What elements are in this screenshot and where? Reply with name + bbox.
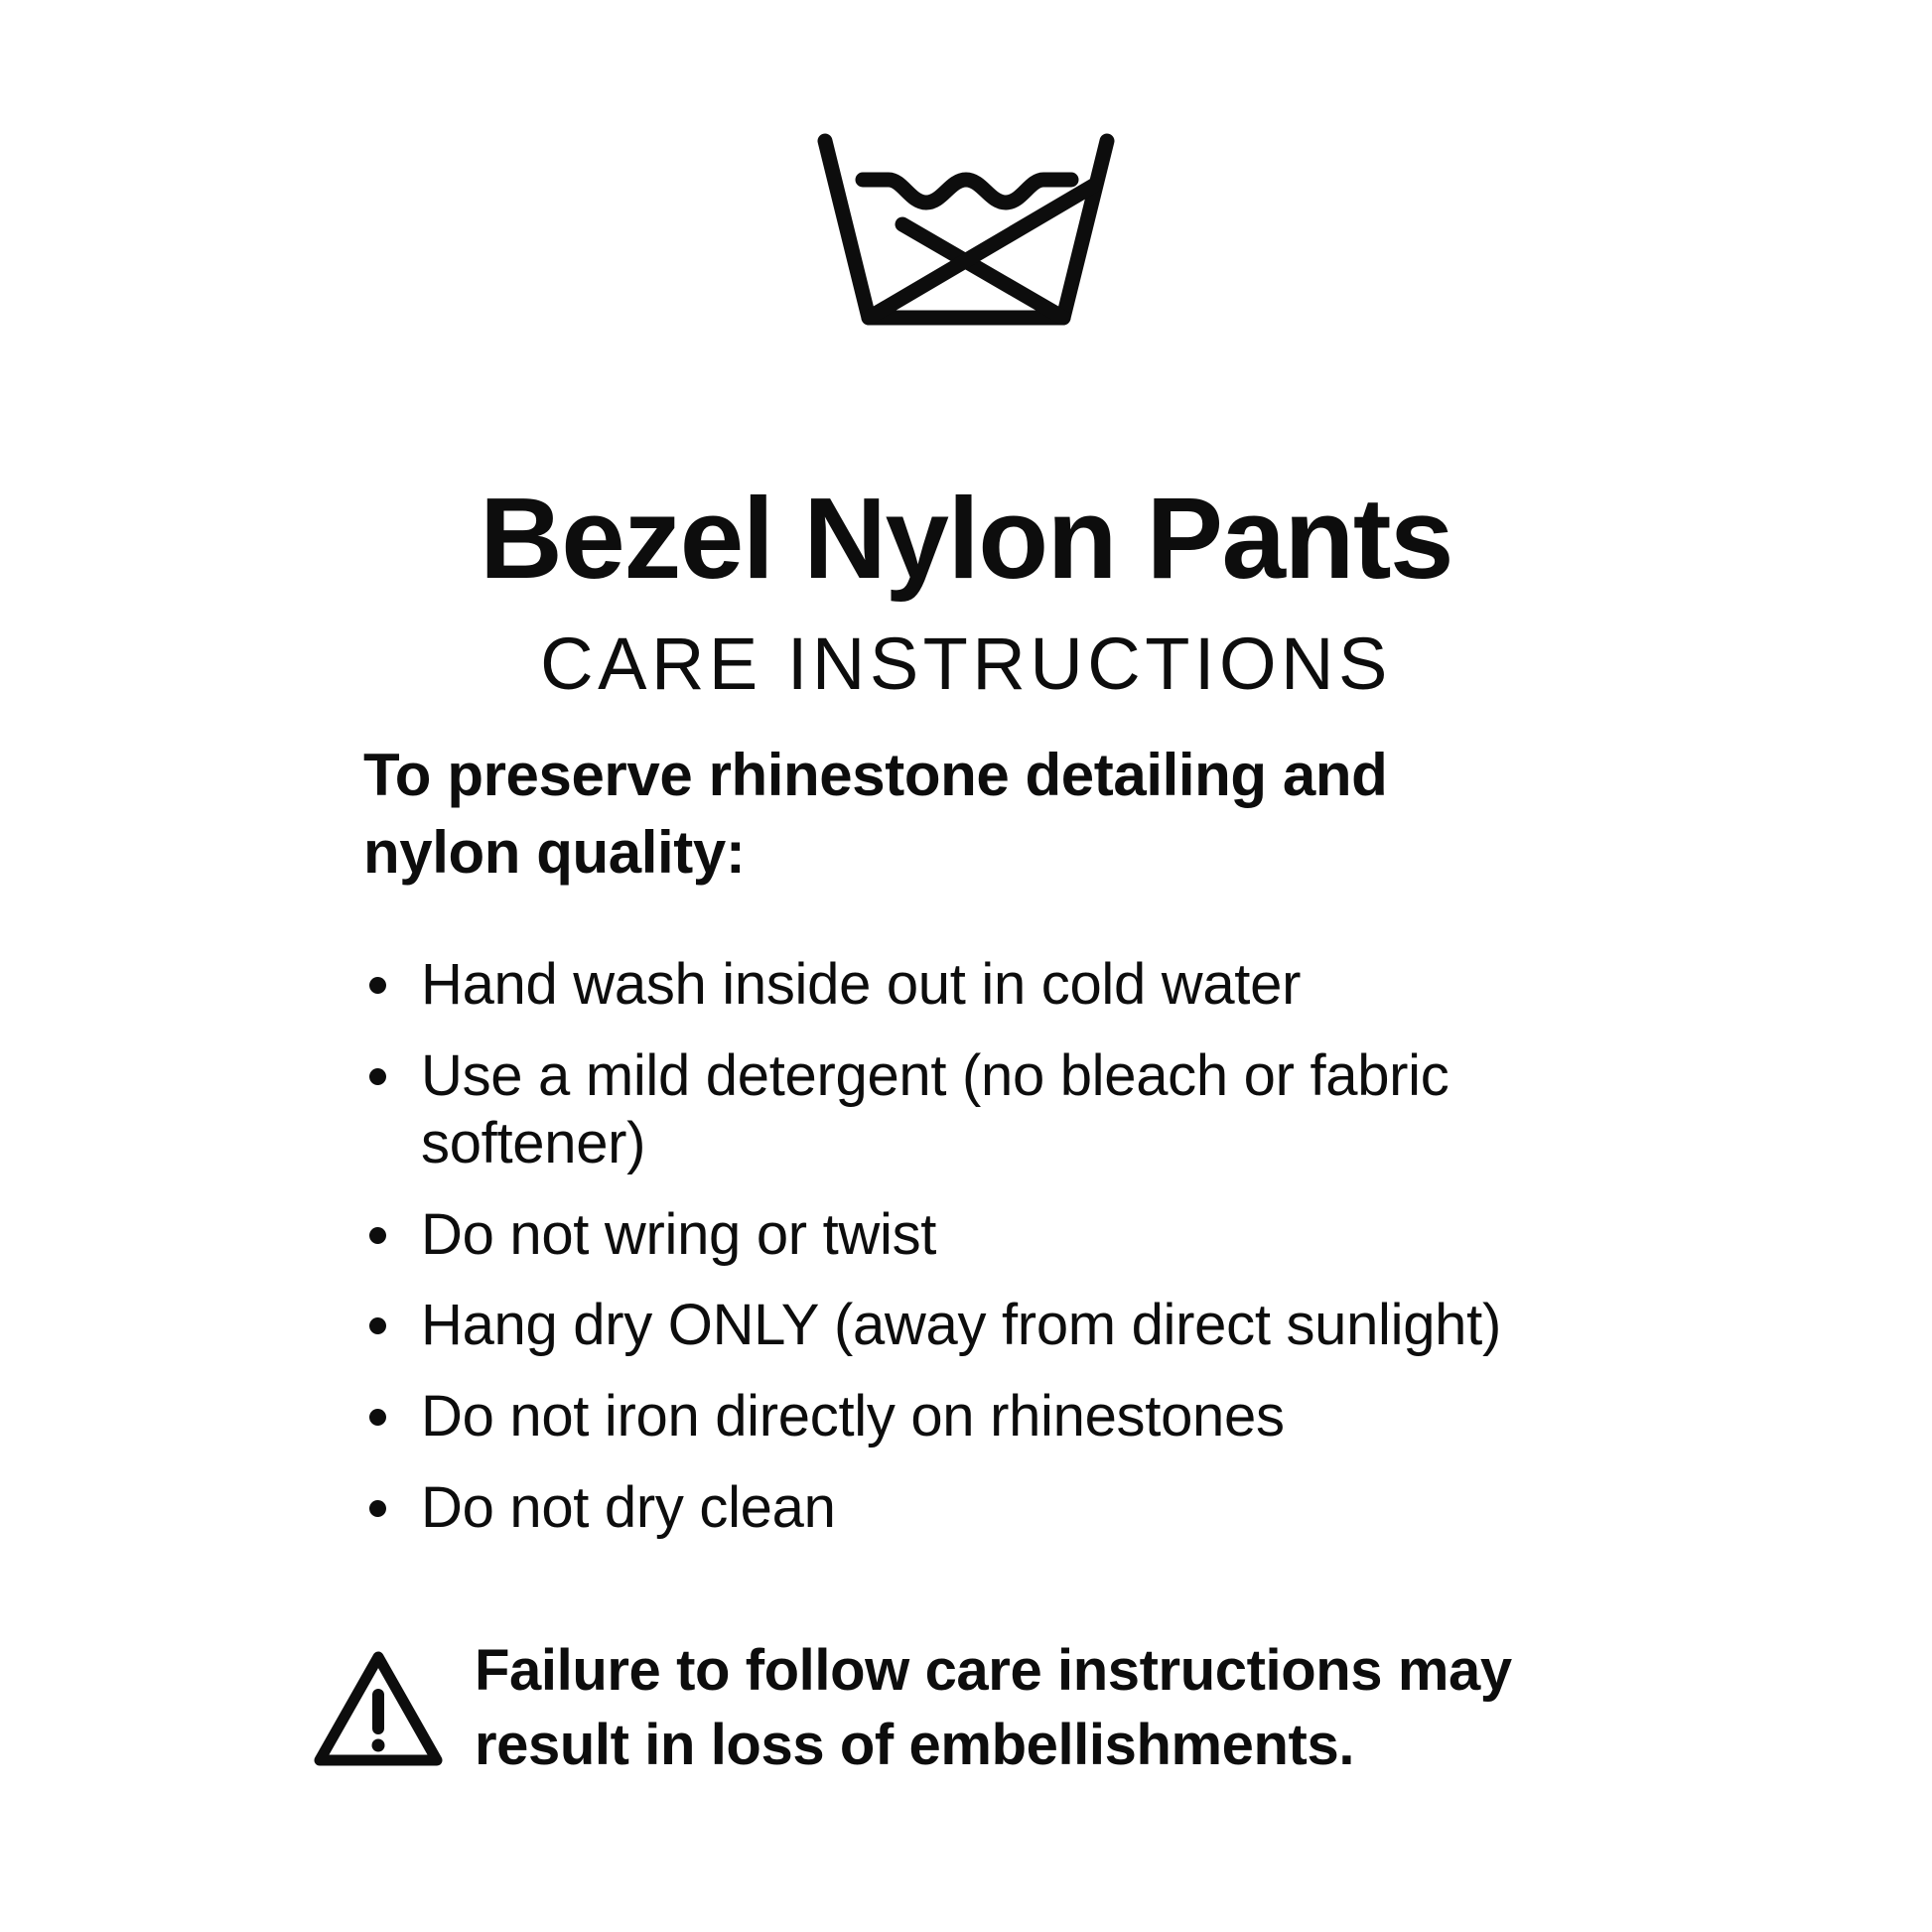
page-subtitle: CARE INSTRUCTIONS	[0, 623, 1932, 704]
list-item-label: Hand wash inside out in cold water	[421, 952, 1301, 1017]
care-content: To preserve rhinestone detailing and nyl…	[363, 737, 1624, 1783]
bullet-icon	[369, 1068, 386, 1085]
bullet-icon	[369, 1409, 386, 1426]
list-item: Do not wring or twist	[363, 1201, 1624, 1269]
bullet-icon	[369, 977, 386, 994]
care-label-card: Bezel Nylon Pants CARE INSTRUCTIONS To p…	[0, 0, 1932, 1932]
care-symbol-row	[0, 107, 1932, 355]
list-item: Hang dry ONLY (away from direct sunlight…	[363, 1292, 1624, 1359]
warning-triangle-icon	[308, 1643, 449, 1778]
list-item: Do not dry clean	[363, 1474, 1624, 1542]
product-title: Bezel Nylon Pants	[0, 479, 1932, 600]
care-instruction-list: Hand wash inside out in cold water Use a…	[363, 951, 1624, 1542]
intro-text: To preserve rhinestone detailing and nyl…	[363, 737, 1535, 892]
list-item-label: Use a mild detergent (no bleach or fabri…	[421, 1043, 1449, 1175]
list-item: Hand wash inside out in cold water	[363, 951, 1624, 1019]
list-item-label: Do not dry clean	[421, 1475, 836, 1540]
list-item-label: Hang dry ONLY (away from direct sunlight…	[421, 1293, 1501, 1357]
bullet-icon	[369, 1317, 386, 1334]
list-item-label: Do not iron directly on rhinestones	[421, 1384, 1285, 1449]
warning-notice: Failure to follow care instructions may …	[363, 1633, 1624, 1783]
list-item-label: Do not wring or twist	[421, 1202, 936, 1267]
bullet-icon	[369, 1227, 386, 1244]
list-item: Use a mild detergent (no bleach or fabri…	[363, 1042, 1624, 1177]
warning-text: Failure to follow care instructions may …	[475, 1633, 1624, 1783]
list-item: Do not iron directly on rhinestones	[363, 1383, 1624, 1450]
bullet-icon	[369, 1500, 386, 1517]
do-not-machine-wash-icon	[777, 107, 1155, 355]
